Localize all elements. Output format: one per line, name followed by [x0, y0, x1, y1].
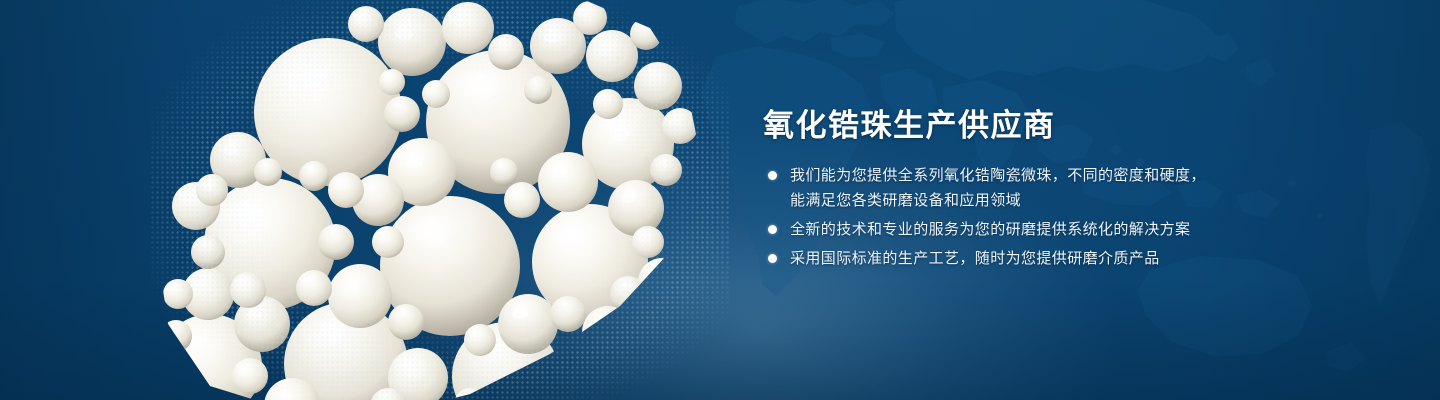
list-item: 全新的技术和专业的服务为您的研磨提供系统化的解决方案 — [763, 217, 1233, 242]
list-item: 我们能为您提供全系列氧化锆陶瓷微珠，不同的密度和硬度， 能满足您各类研磨设备和应… — [763, 163, 1233, 213]
hero-banner: 氧化锆珠生产供应商 我们能为您提供全系列氧化锆陶瓷微珠，不同的密度和硬度， 能满… — [0, 0, 1440, 400]
zirconia-beads-photo — [150, 0, 720, 400]
banner-copy: 氧化锆珠生产供应商 我们能为您提供全系列氧化锆陶瓷微珠，不同的密度和硬度， 能满… — [763, 106, 1233, 275]
bullet-dot-icon — [768, 254, 777, 263]
bullet-dot-icon — [768, 225, 777, 234]
page-title: 氧化锆珠生产供应商 — [763, 106, 1233, 146]
list-item-line1: 我们能为您提供全系列氧化锆陶瓷微珠，不同的密度和硬度， — [790, 167, 1206, 184]
list-item-line1: 采用国际标准的生产工艺，随时为您提供研磨介质产品 — [790, 250, 1160, 267]
list-item-line2: 能满足您各类研磨设备和应用领域 — [790, 188, 1233, 213]
feature-list: 我们能为您提供全系列氧化锆陶瓷微珠，不同的密度和硬度， 能满足您各类研磨设备和应… — [763, 163, 1233, 271]
bullet-dot-icon — [768, 171, 777, 180]
list-item-line1: 全新的技术和专业的服务为您的研磨提供系统化的解决方案 — [790, 221, 1190, 238]
list-item: 采用国际标准的生产工艺，随时为您提供研磨介质产品 — [763, 246, 1233, 271]
